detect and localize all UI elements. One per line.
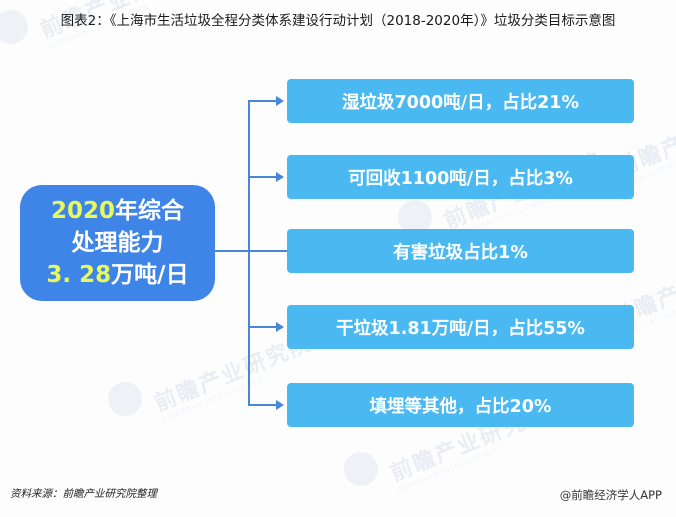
root-node-capacity: 3. 28 xyxy=(46,262,111,288)
connector-branch-2 xyxy=(248,176,276,178)
branch-box-hazardous[interactable]: 有害垃圾占比1% xyxy=(287,229,634,273)
root-node-line3-rest: 万吨/日 xyxy=(111,262,188,288)
branch-box-wet-waste[interactable]: 湿垃圾7000吨/日，占比21% xyxy=(287,79,634,123)
connector-root-stub xyxy=(214,250,250,252)
branch-label: 有害垃圾占比1% xyxy=(393,239,528,264)
watermark-logo-icon xyxy=(108,382,142,416)
arrow-icon-branch-1 xyxy=(276,96,284,106)
branch-label: 可回收1100吨/日，占比3% xyxy=(348,165,573,190)
watermark-subtext: QIANZHAN INTELLIGENCE xyxy=(397,425,555,494)
arrow-icon-branch-5 xyxy=(276,400,284,410)
source-note: 资料来源：前瞻产业研究院整理 xyxy=(10,486,157,501)
connector-branch-1 xyxy=(248,100,276,102)
root-node-line-3: 3. 28万吨/日 xyxy=(46,259,188,291)
connector-branch-4 xyxy=(248,326,276,328)
branch-box-landfill-other[interactable]: 填埋等其他，占比20% xyxy=(287,383,634,427)
branch-label: 干垃圾1.81万吨/日，占比55% xyxy=(336,315,585,340)
branch-box-recyclable[interactable]: 可回收1100吨/日，占比3% xyxy=(287,155,634,199)
root-node[interactable]: 2020年综合 处理能力 3. 28万吨/日 xyxy=(20,185,215,301)
connector-branch-3 xyxy=(248,250,288,252)
diagram-canvas: 前瞻产业研究院 QIANZHAN INTELLIGENCE 前瞻产业研究院 QI… xyxy=(0,0,676,517)
chart-title: 图表2：《上海市生活垃圾全程分类体系建设行动计划（2018-2020年）》垃圾分… xyxy=(18,12,658,31)
branch-label: 填埋等其他，占比20% xyxy=(370,393,552,418)
root-node-year: 2020 xyxy=(51,198,115,224)
branch-box-dry-waste[interactable]: 干垃圾1.81万吨/日，占比55% xyxy=(287,305,634,349)
arrow-icon-branch-4 xyxy=(276,322,284,332)
connector-branch-5 xyxy=(248,404,276,406)
brand-credit: @前瞻经济学人APP xyxy=(560,487,662,503)
arrow-icon-branch-2 xyxy=(276,172,284,182)
root-node-label: 2020年综合 处理能力 3. 28万吨/日 xyxy=(46,195,188,291)
branch-label: 湿垃圾7000吨/日，占比21% xyxy=(342,89,579,114)
root-node-line-1: 2020年综合 xyxy=(46,195,188,227)
root-node-line-2: 处理能力 xyxy=(46,227,188,259)
root-node-line1-rest: 年综合 xyxy=(115,198,184,224)
connector-spine xyxy=(248,100,250,406)
watermark-logo-icon xyxy=(344,452,378,486)
